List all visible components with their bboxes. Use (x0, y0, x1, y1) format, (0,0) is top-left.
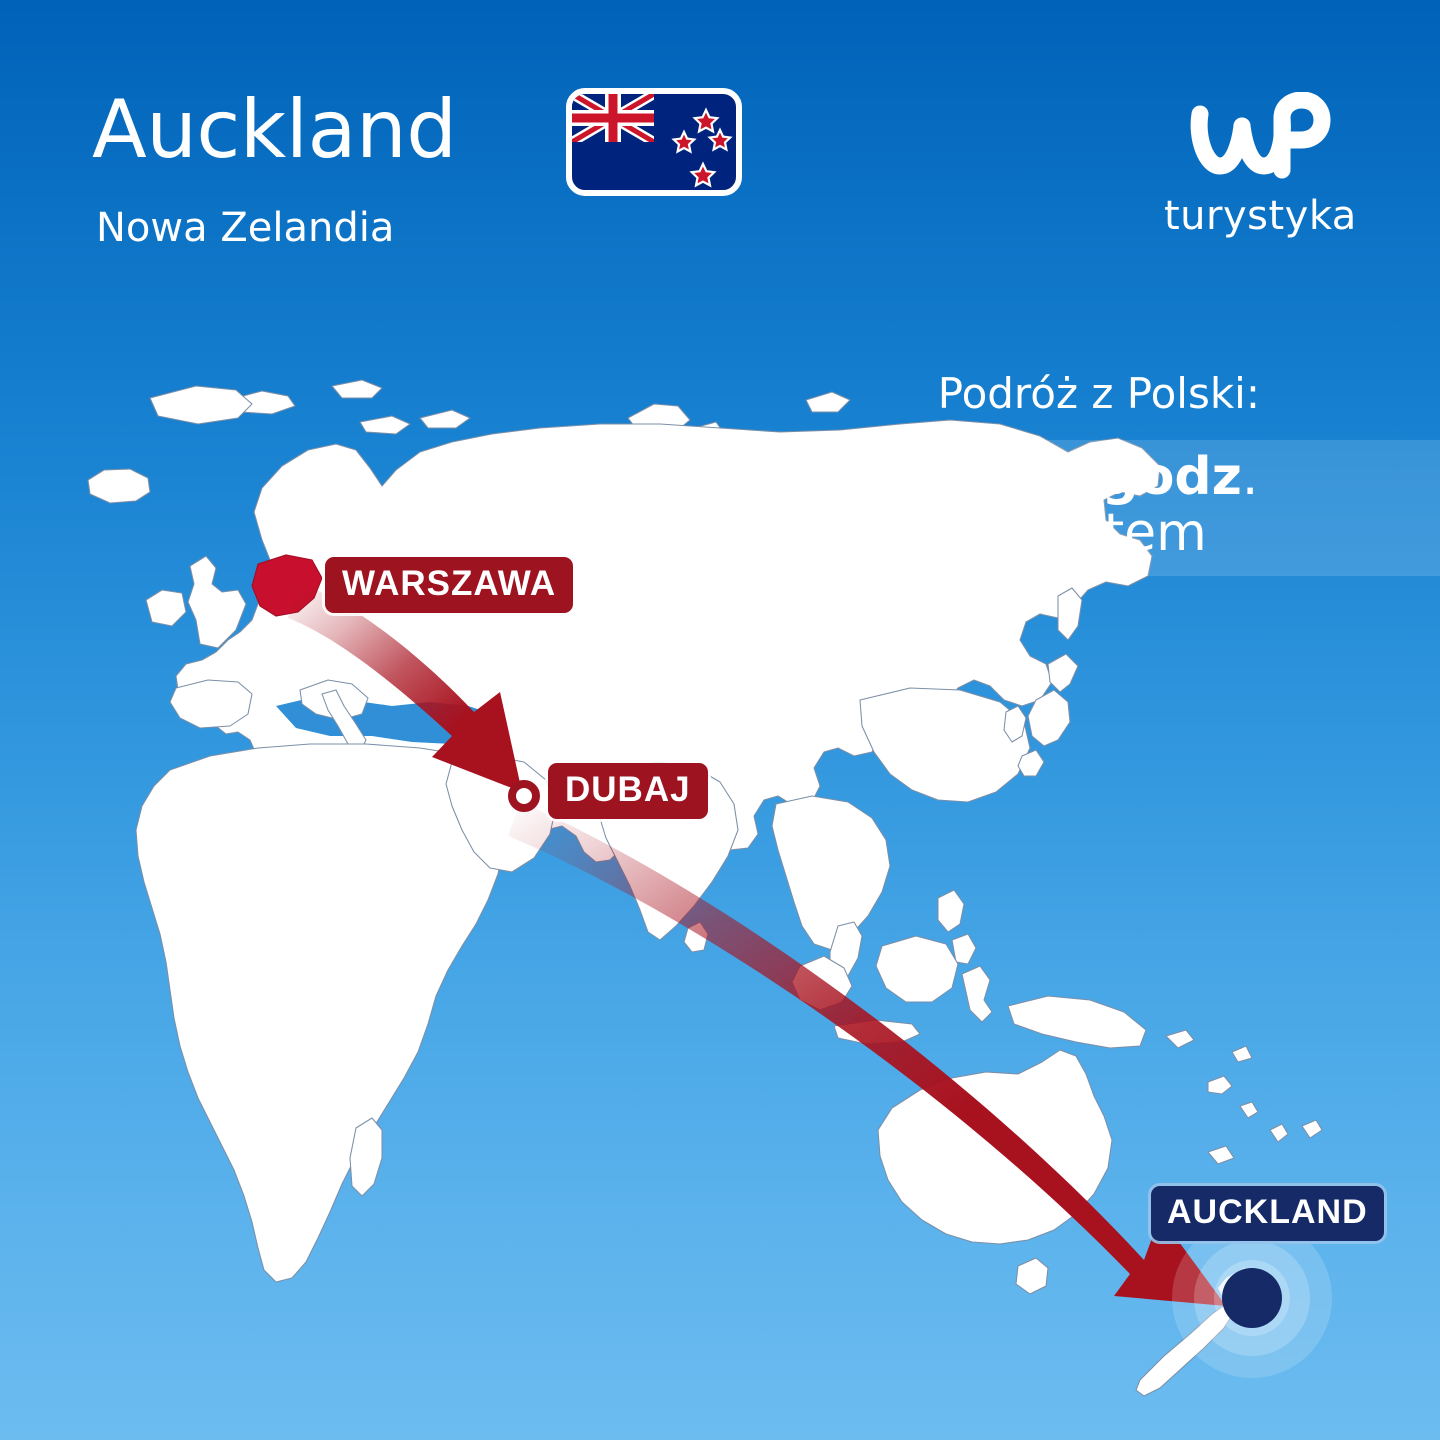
duration-value: 22 godz (1011, 447, 1242, 507)
city-label-dubaj[interactable]: DUBAJ (548, 763, 708, 819)
duration-prefix: ok. (916, 447, 1011, 507)
city-label-auckland-text: AUCKLAND (1167, 1193, 1368, 1232)
travel-mode: samolotem (916, 504, 1207, 562)
city-label-dubaj-text: DUBAJ (565, 770, 691, 810)
city-label-warszawa[interactable]: WARSZAWA (325, 557, 573, 613)
city-label-warszawa-text: WARSZAWA (342, 564, 556, 604)
auckland-center-dot (1222, 1268, 1282, 1328)
travel-duration: ok. 22 godz. (916, 448, 1258, 506)
arrow-dubaj-auckland (508, 802, 1226, 1306)
infographic-canvas: WARSZAWA DUBAJ AUCKLAND Auckland Nowa Ze… (0, 0, 1440, 1440)
airplane-icon (832, 462, 906, 546)
page-subtitle: Nowa Zelandia (96, 206, 394, 250)
duration-suffix: . (1242, 447, 1259, 507)
city-label-auckland[interactable]: AUCKLAND (1151, 1186, 1384, 1241)
new-zealand-flag-icon (566, 88, 742, 196)
travel-info-title: Podróż z Polski: (938, 370, 1260, 418)
arrow-warszawa-dubaj (288, 583, 522, 792)
brand-name: turystyka (1164, 194, 1354, 238)
page-title: Auckland (92, 88, 456, 172)
brand-logo[interactable]: turystyka (1164, 92, 1354, 238)
auckland-marker (1172, 1218, 1332, 1378)
dubai-marker (508, 780, 540, 812)
wp-logo-icon (1184, 92, 1334, 188)
